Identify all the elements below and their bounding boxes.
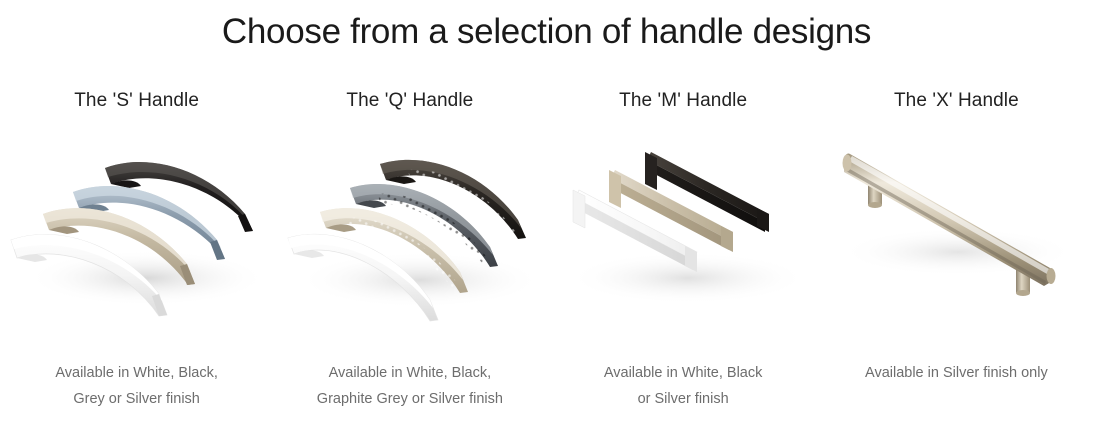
handle-caption-q-line2: Graphite Grey or Silver finish bbox=[280, 386, 540, 412]
handle-caption-x: Available in Silver finish only bbox=[831, 360, 1081, 386]
handle-designs-section: Choose from a selection of handle design… bbox=[0, 0, 1093, 421]
handle-caption-s-line2: Grey or Silver finish bbox=[12, 386, 262, 412]
handle-caption-m-line2: or Silver finish bbox=[558, 386, 808, 412]
handle-columns-grid: The 'S' Handle bbox=[0, 88, 1093, 421]
handle-column-m[interactable]: The 'M' Handle bbox=[547, 88, 820, 421]
handle-title-m: The 'M' Handle bbox=[619, 88, 747, 114]
handle-caption-m-line1: Available in White, Black bbox=[558, 360, 808, 386]
s-handle-photo bbox=[7, 128, 267, 333]
handle-caption-x-line1: Available in Silver finish only bbox=[831, 360, 1081, 386]
x-handle-photo bbox=[826, 128, 1086, 333]
handle-title-s: The 'S' Handle bbox=[74, 88, 199, 114]
q-handle-photo bbox=[280, 128, 540, 333]
handle-caption-s-line1: Available in White, Black, bbox=[12, 360, 262, 386]
m-handle-photo bbox=[553, 128, 813, 333]
handle-caption-m: Available in White, Black or Silver fini… bbox=[558, 360, 808, 412]
page-title: Choose from a selection of handle design… bbox=[0, 10, 1093, 54]
handle-title-q: The 'Q' Handle bbox=[346, 88, 473, 114]
handle-title-x: The 'X' Handle bbox=[894, 88, 1019, 114]
handle-caption-q: Available in White, Black, Graphite Grey… bbox=[280, 360, 540, 412]
handle-caption-s: Available in White, Black, Grey or Silve… bbox=[12, 360, 262, 412]
handle-column-s[interactable]: The 'S' Handle bbox=[0, 88, 273, 421]
handle-column-q[interactable]: The 'Q' Handle bbox=[273, 88, 546, 421]
handle-caption-q-line1: Available in White, Black, bbox=[280, 360, 540, 386]
handle-column-x[interactable]: The 'X' Handle bbox=[820, 88, 1093, 421]
